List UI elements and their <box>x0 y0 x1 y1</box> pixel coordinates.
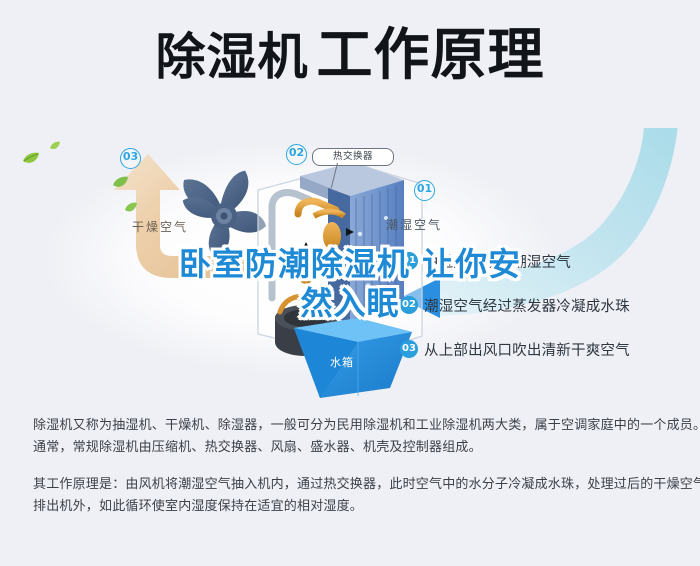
paragraph-1: 除湿机又称为抽湿机、干燥机、除湿器，一般可分为民用除湿机和工业除湿机两大类，属于… <box>33 414 673 458</box>
page-root: 除湿机工作原理 <box>0 0 700 566</box>
paragraph-1-line-2: 通常，常规除湿机由压缩机、热交换器、风扇、盛水器、机壳及控制器组成。 <box>33 436 673 458</box>
step-text-02: 潮湿空气经过蒸发器冷凝成水珠 <box>424 295 630 316</box>
leaf-icon <box>49 141 61 151</box>
diagram-badge-02: 02 <box>286 144 307 165</box>
page-title: 除湿机工作原理 <box>0 28 700 84</box>
diagram-badge-03: 03 <box>120 148 141 169</box>
label-dry-air: 干燥空气 <box>132 218 188 235</box>
paragraph-2: 其工作原理是：由风机将潮湿空气抽入机内，通过热交换器，此时空气中的水分子冷凝成水… <box>33 473 673 517</box>
paragraph-1-line-1: 除湿机又称为抽湿机、干燥机、除湿器，一般可分为民用除湿机和工业除湿机两大类，属于… <box>33 414 673 436</box>
list-item: 01 由进风口吸入潮湿空气 <box>400 250 690 272</box>
diagram-badge-01: 01 <box>414 180 435 201</box>
paragraph-2-line-2: 排出机外，如此循环使室内湿度保持在适宜的相对湿度。 <box>33 495 673 517</box>
step-list: 01 由进风口吸入潮湿空气 02 潮湿空气经过蒸发器冷凝成水珠 03 从上部出风… <box>400 250 690 382</box>
step-badge-03: 03 <box>400 340 418 358</box>
callout-heat-exchanger: 热交换器 <box>312 148 394 166</box>
page-title-part-b: 工作原理 <box>317 28 545 84</box>
label-water-tank: 水箱 <box>330 354 354 370</box>
paragraph-2-line-1: 其工作原理是：由风机将潮湿空气抽入机内，通过热交换器，此时空气中的水分子冷凝成水… <box>33 473 673 495</box>
body-copy: 除湿机又称为抽湿机、干燥机、除湿器，一般可分为民用除湿机和工业除湿机两大类，属于… <box>33 414 673 517</box>
label-humid-air: 潮湿空气 <box>386 216 442 233</box>
leaf-icon <box>124 202 138 214</box>
step-text-03: 从上部出风口吹出清新干爽空气 <box>424 339 630 360</box>
step-badge-01: 01 <box>400 252 418 270</box>
page-title-part-a: 除湿机 <box>156 32 309 82</box>
leaf-icon <box>112 176 129 190</box>
list-item: 02 潮湿空气经过蒸发器冷凝成水珠 <box>400 294 690 316</box>
leaf-icon <box>22 152 40 166</box>
list-item: 03 从上部出风口吹出清新干爽空气 <box>400 338 690 360</box>
step-badge-02: 02 <box>400 296 418 314</box>
step-text-01: 由进风口吸入潮湿空气 <box>424 251 571 272</box>
